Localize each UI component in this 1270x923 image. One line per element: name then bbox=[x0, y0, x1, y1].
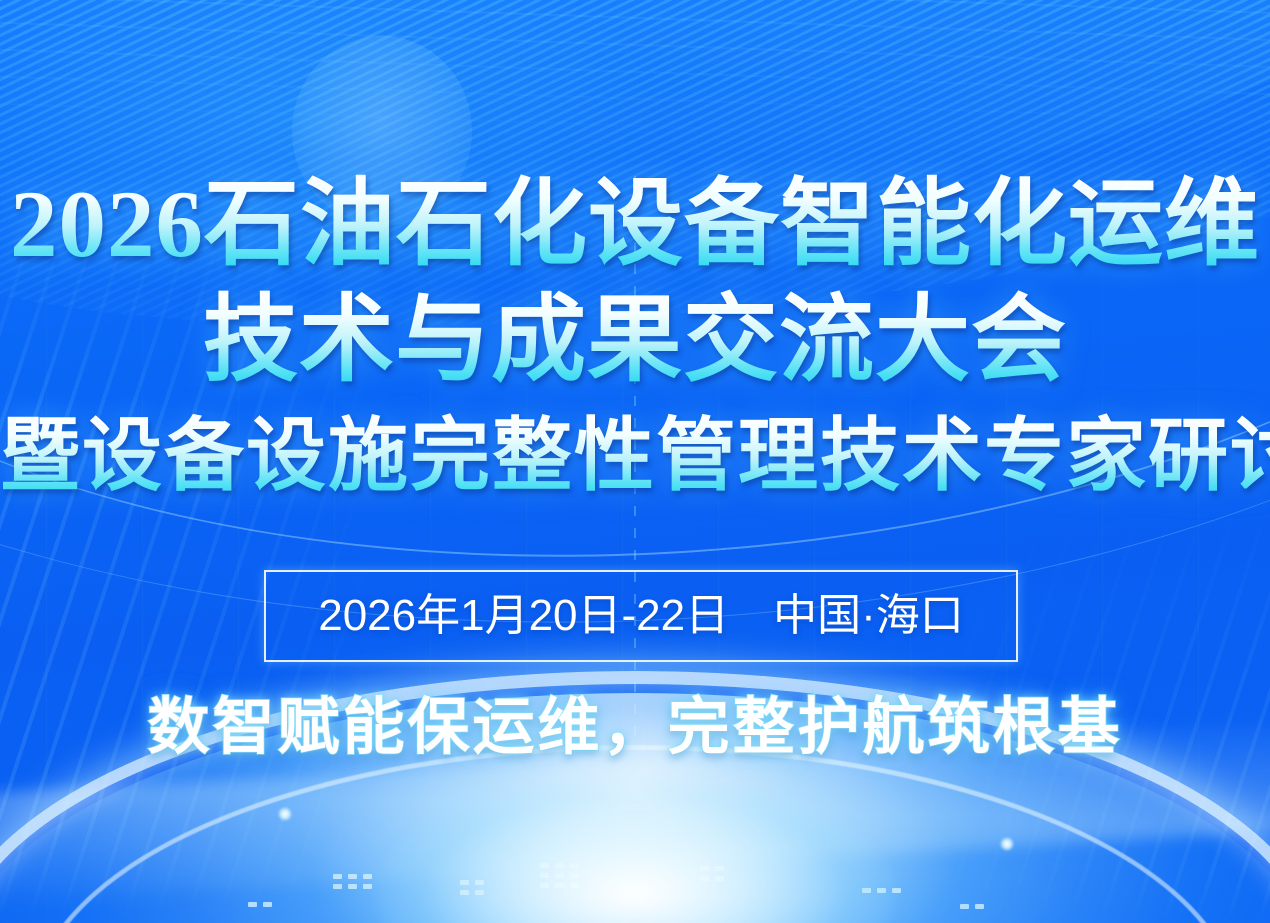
conference-poster: 2026石油石化设备智能化运维 技术与成果交流大会 暨设备设施完整性管理技术专家… bbox=[0, 0, 1270, 923]
poster-title-line-1: 2026石油石化设备智能化运维 bbox=[0, 172, 1270, 276]
poster-title-line-2: 技术与成果交流大会 bbox=[0, 288, 1270, 392]
poster-subtitle-line: 暨设备设施完整性管理技术专家研讨会 bbox=[0, 412, 1270, 502]
poster-tagline: 数智赋能保运维，完整护航筑根基 bbox=[0, 692, 1270, 764]
conference-location: 中国·海口 bbox=[773, 592, 964, 640]
conference-date: 2026年1月20日-22日 bbox=[318, 592, 729, 640]
date-location-box: 2026年1月20日-22日 中国·海口 bbox=[264, 570, 1018, 662]
poster-content: 2026石油石化设备智能化运维 技术与成果交流大会 暨设备设施完整性管理技术专家… bbox=[0, 0, 1270, 923]
